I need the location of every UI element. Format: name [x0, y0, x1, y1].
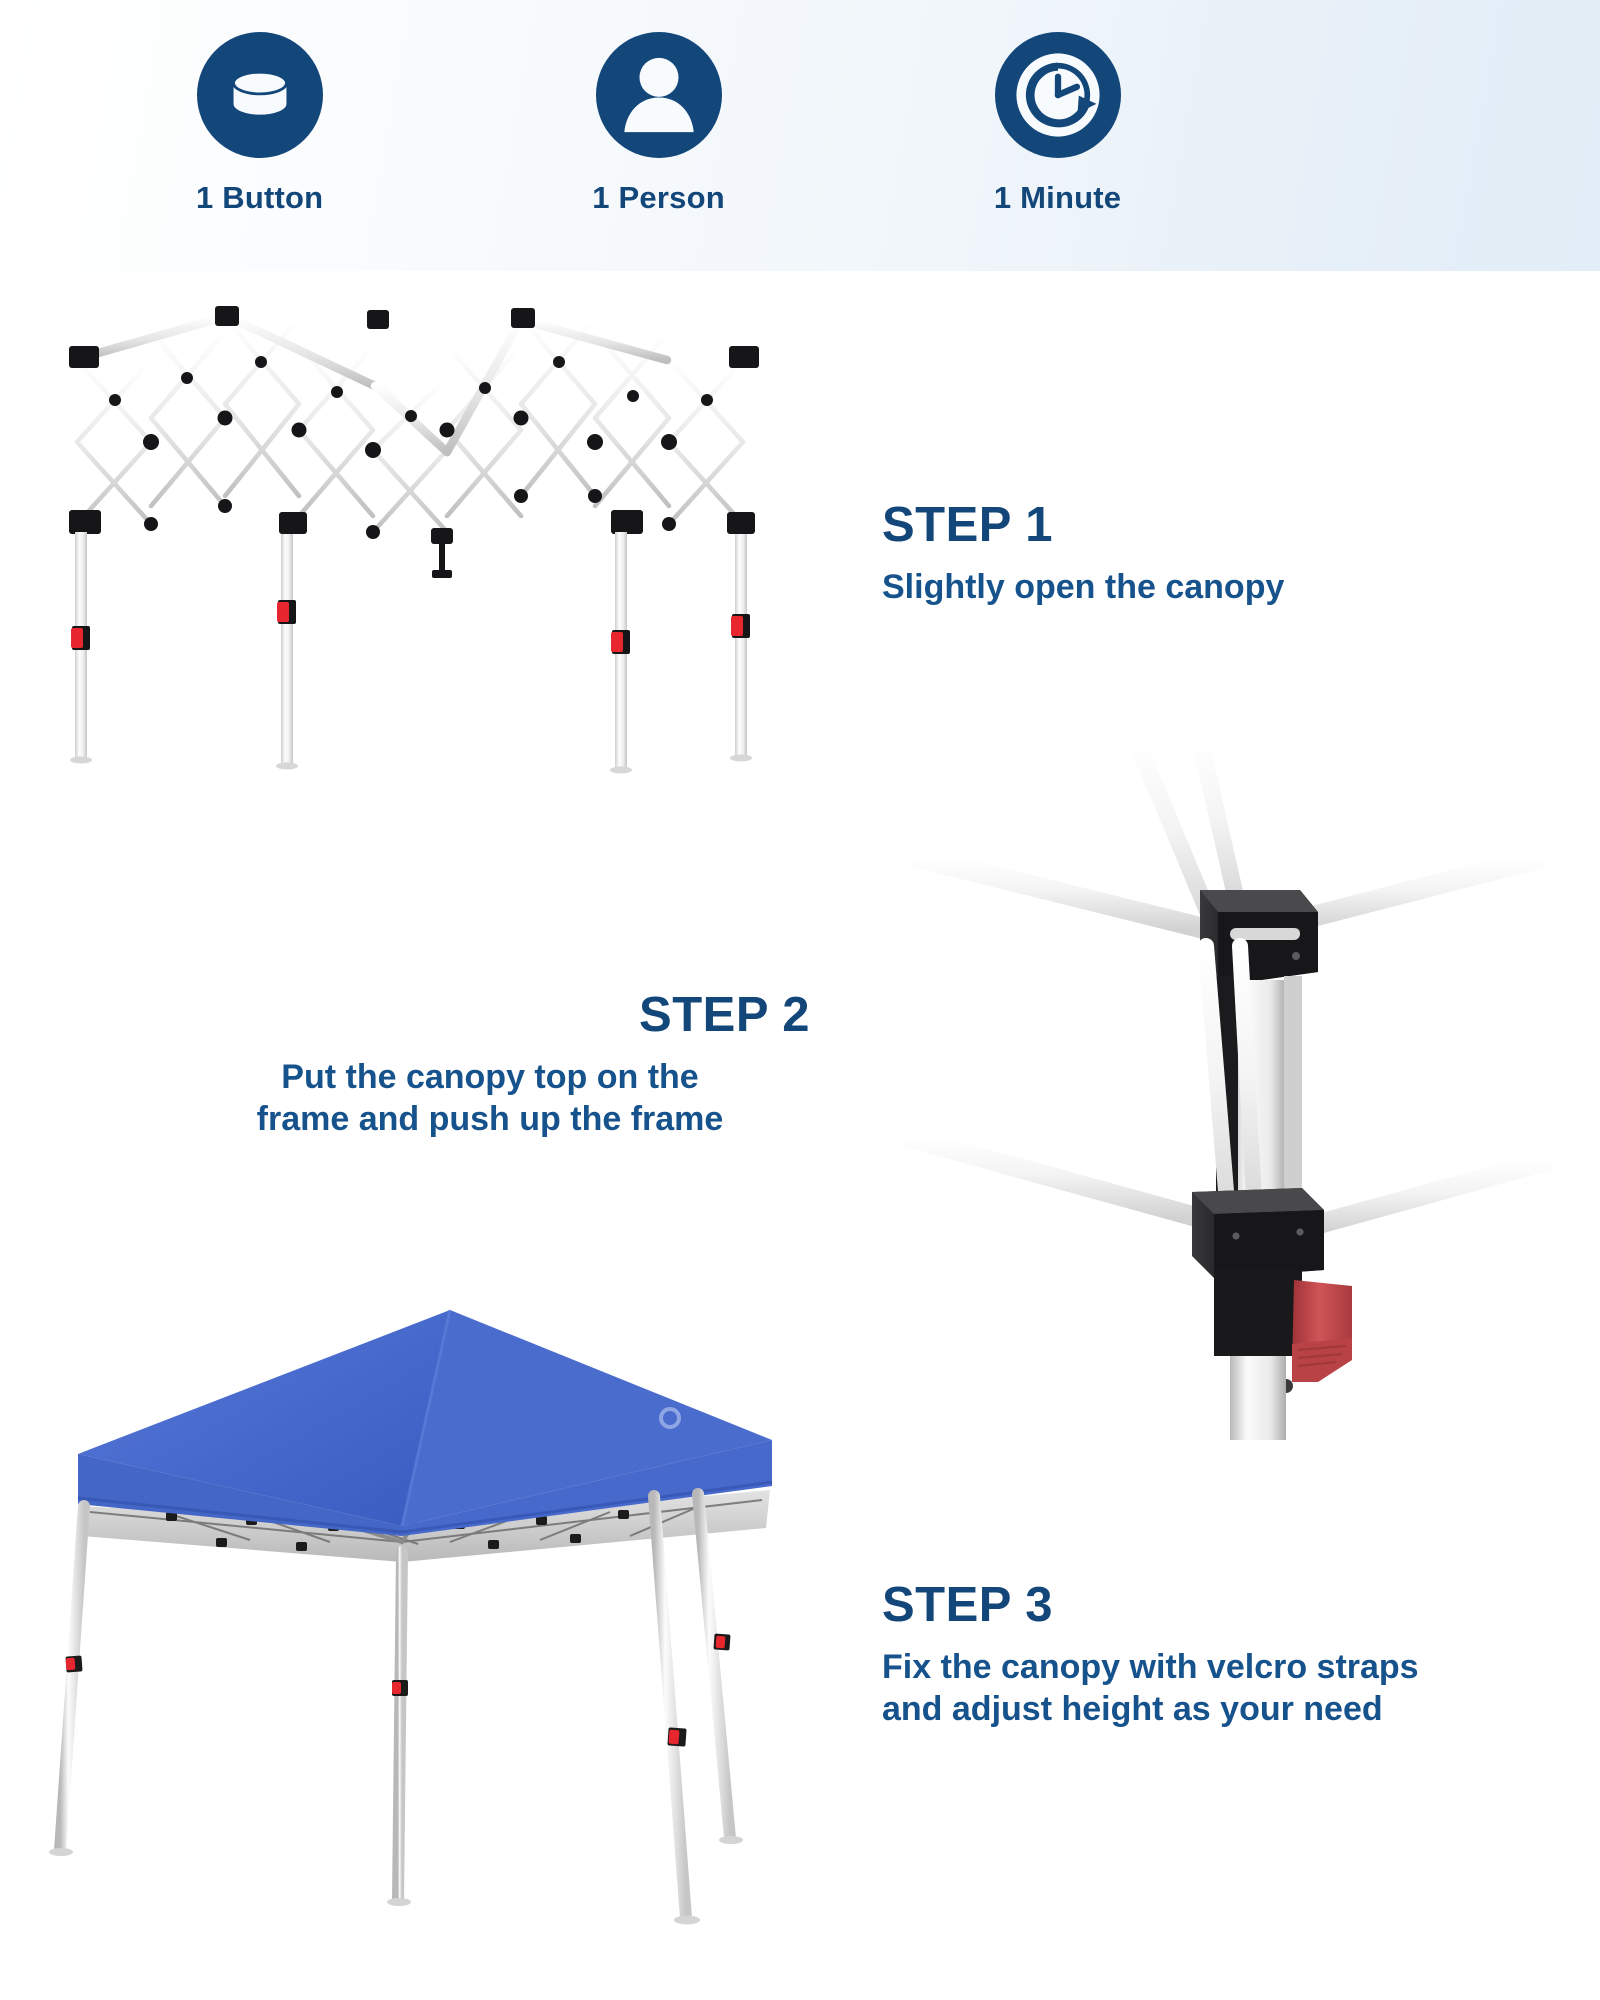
step3-title: STEP 3	[882, 1580, 1419, 1631]
step3-text-block: STEP 3 Fix the canopy with velcro straps…	[882, 1580, 1419, 1730]
step2-title: STEP 2	[170, 990, 810, 1041]
red-release-lever	[1292, 1280, 1352, 1382]
step1-description: Slightly open the canopy	[882, 567, 1284, 608]
feature-label: 1 Person	[592, 180, 725, 216]
step1-title: STEP 1	[882, 500, 1284, 551]
feature-1-person: 1 Person	[592, 0, 725, 216]
step3-image-assembled-blue-canopy	[50, 1290, 790, 1950]
step1-text-block: STEP 1 Slightly open the canopy	[882, 500, 1284, 609]
infographic-canvas: 1 Button 1 Person	[0, 0, 1600, 2000]
feature-header-band: 1 Button 1 Person	[0, 0, 1600, 271]
person-icon	[596, 32, 722, 158]
clock-rotate-icon	[995, 32, 1121, 158]
step2-image-bracket-hub-closeup	[900, 740, 1560, 1440]
step2-text-block: STEP 2 Put the canopy top on the frame a…	[170, 990, 810, 1140]
feature-label: 1 Button	[196, 180, 323, 216]
step3-description: Fix the canopy with velcro straps and ad…	[882, 1647, 1419, 1730]
feature-1-button: 1 Button	[196, 0, 323, 216]
push-button-icon	[197, 32, 323, 158]
step2-description-line1: Put the canopy top on the	[281, 1058, 698, 1096]
feature-label: 1 Minute	[994, 180, 1121, 216]
feature-row: 1 Button 1 Person	[0, 0, 1600, 271]
step1-image-partially-opened-frame	[55, 300, 785, 780]
step2-description-line2: frame and push up the frame	[257, 1100, 724, 1138]
step3-description-line2: and adjust height as your need	[882, 1690, 1383, 1728]
feature-1-minute: 1 Minute	[994, 0, 1121, 216]
step2-description: Put the canopy top on the frame and push…	[170, 1057, 810, 1140]
step3-description-line1: Fix the canopy with velcro straps	[882, 1648, 1419, 1686]
